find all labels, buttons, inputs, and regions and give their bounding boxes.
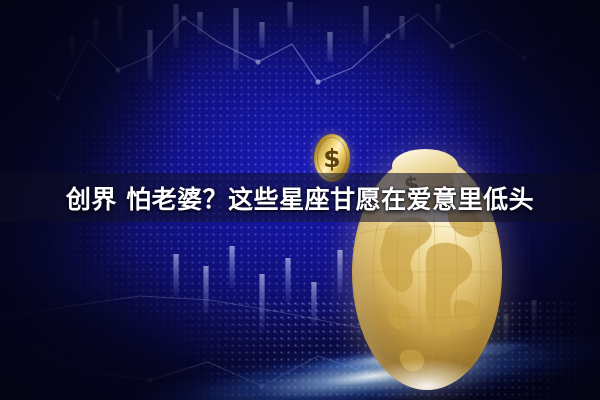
dollar-sign-glyph: $ [323, 146, 340, 171]
promo-banner: $ [0, 0, 600, 400]
globe-bottom-glow [352, 316, 502, 390]
page-title: 创界 怕老婆？这些星座甘愿在爱意里低头 [0, 176, 600, 220]
